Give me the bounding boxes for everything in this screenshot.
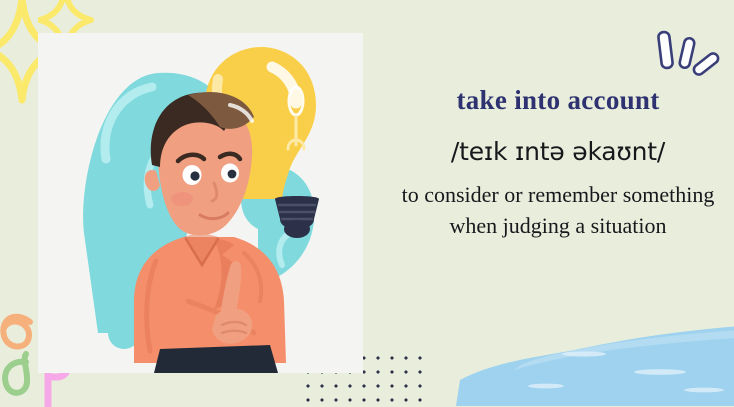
dash-marks-decoration (654, 28, 726, 85)
page-title: take into account (386, 86, 730, 116)
vocabulary-flashcard: take into account /teɪk ɪntə əkaʊnt/ to … (0, 0, 734, 407)
phonetic-transcription: /teɪk ɪntə əkaʊnt/ (386, 138, 730, 166)
definition-text: to consider or remember something when j… (386, 179, 730, 241)
brush-stroke-decoration (454, 310, 734, 407)
thinking-man-lightbulb-illustration (38, 33, 363, 373)
entry-text-column: take into account /teɪk ɪntə əkaʊnt/ to … (386, 86, 730, 242)
illustration-card (38, 33, 363, 373)
